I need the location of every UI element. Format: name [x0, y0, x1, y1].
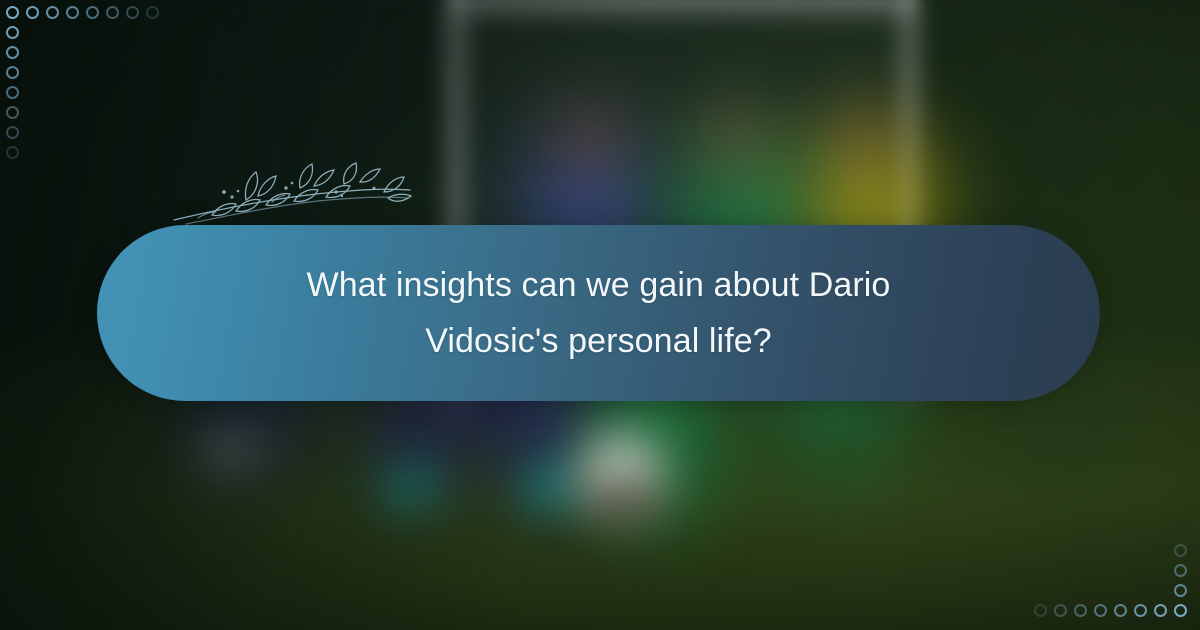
headline-line-1: What insights can we gain about Dario [219, 257, 979, 313]
headline-pill: What insights can we gain about Dario Vi… [97, 225, 1100, 401]
quote-card: What insights can we gain about Dario Vi… [0, 0, 1200, 630]
headline-line-2: Vidosic's personal life? [219, 313, 979, 369]
headline-text: What insights can we gain about Dario Vi… [219, 257, 979, 369]
